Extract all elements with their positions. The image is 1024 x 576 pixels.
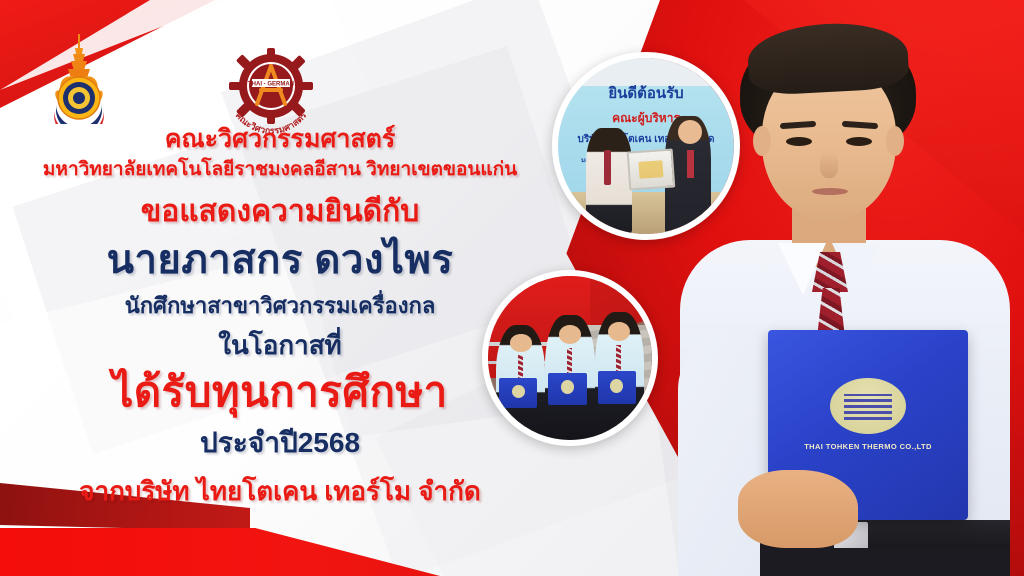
text-block: คณะวิศวกรรมศาสตร์ มหาวิทยาลัยเทคโนโลยีรา… [0,0,560,576]
major-text: นักศึกษาสาขาวิศวกรรมเครื่องกล [0,295,560,318]
folder-brand-label: THAI TOHKEN THERMO CO.,LTD [768,442,968,451]
sponsor-text: จากบริษัท ไทยโตเคน เทอร์โม จำกัด [0,478,560,505]
occasion-text: ในโอกาสที่ [0,332,560,359]
university-subtitle: มหาวิทยาลัยเทคโนโลยีราชมงคลอีสาน วิทยาเข… [0,160,560,180]
year-text: ประจำปี2568 [0,428,560,457]
faculty-title: คณะวิศวกรรมศาสตร์ [0,126,560,152]
award-headline: ได้รับทุนการศึกษา [0,370,560,414]
tohken-logo-icon [830,378,906,434]
congratulations-banner: THAI - GERMAN คณะวิศวกรรมศาสตร์ ยินดีต้อ… [0,0,1024,576]
student-portrait: THAI TOHKEN THERMO CO.,LTD [620,0,1024,576]
congratulation-text: ขอแสดงความยินดีกับ [0,196,560,227]
recipient-name: นายภาสกร ดวงไพร [0,240,560,282]
